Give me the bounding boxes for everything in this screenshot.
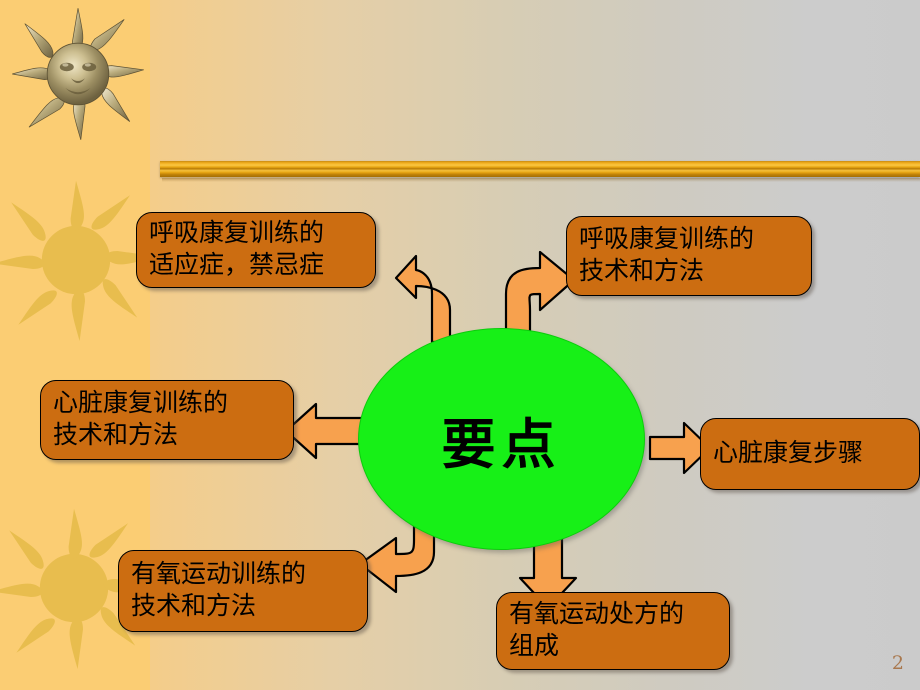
- node-cardiac-steps-label: 心脏康复步骤: [713, 437, 863, 469]
- sun-emblem-icon: [8, 4, 148, 144]
- center-node-label: 要点: [442, 400, 562, 479]
- node-aerobic-prescription[interactable]: 有氧运动处方的 组成: [496, 592, 730, 670]
- sun-decoration-upper: [0, 170, 150, 350]
- center-node[interactable]: 要点: [358, 328, 645, 550]
- page-number: 2: [892, 652, 904, 674]
- gold-divider-bar: [160, 161, 920, 177]
- arrow-to-top-left: [392, 232, 472, 342]
- slide-canvas: 要点 呼吸康复训练的 适应症，禁忌症 呼吸康复训练的 技术和方法 心脏康复训练的…: [0, 0, 920, 690]
- node-cardiac-techniques[interactable]: 心脏康复训练的 技术和方法: [40, 380, 294, 460]
- node-aerobic-techniques-label: 有氧运动训练的 技术和方法: [131, 558, 306, 622]
- node-respiratory-techniques[interactable]: 呼吸康复训练的 技术和方法: [566, 216, 812, 296]
- node-respiratory-indications-label: 呼吸康复训练的 适应症，禁忌症: [149, 217, 324, 281]
- node-respiratory-techniques-label: 呼吸康复训练的 技术和方法: [579, 223, 754, 287]
- node-respiratory-indications[interactable]: 呼吸康复训练的 适应症，禁忌症: [136, 212, 376, 288]
- gold-divider-bar-shadow: [162, 178, 920, 182]
- node-cardiac-steps[interactable]: 心脏康复步骤: [700, 418, 920, 490]
- node-aerobic-prescription-label: 有氧运动处方的 组成: [509, 598, 684, 662]
- node-aerobic-techniques[interactable]: 有氧运动训练的 技术和方法: [118, 550, 368, 632]
- node-cardiac-techniques-label: 心脏康复训练的 技术和方法: [53, 387, 228, 451]
